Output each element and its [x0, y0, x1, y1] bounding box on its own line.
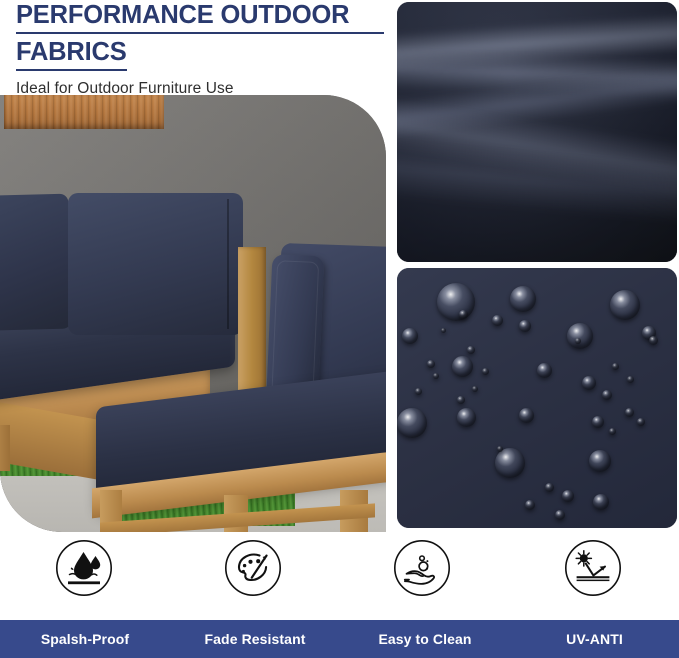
water-droplet — [612, 363, 619, 370]
water-droplet — [575, 338, 581, 344]
water-droplet — [452, 356, 473, 377]
feature-label-easy-to-clean: Easy to Clean — [340, 631, 510, 647]
sofa-left-back-cushion-2 — [68, 193, 243, 335]
hero-photo-outdoor-sofa — [0, 95, 386, 532]
feature-label-splash-proof: Spalsh-Proof — [0, 631, 170, 647]
water-droplet — [545, 483, 554, 492]
feature-icon-splash-proof — [55, 539, 113, 597]
title-line-2: FABRICS — [16, 37, 127, 71]
water-droplet — [495, 448, 525, 478]
water-droplet — [519, 320, 531, 332]
feature-label-bar: Spalsh-Proof Fade Resistant Easy to Clea… — [0, 620, 679, 658]
panel-fabric-closeup — [397, 2, 677, 262]
water-droplet — [582, 376, 596, 390]
water-droplet — [562, 490, 574, 502]
wood-post — [4, 95, 164, 129]
feature-icons-row — [0, 535, 679, 617]
feature-label-uv-anti: UV-ANTI — [510, 631, 679, 647]
fabric-vignette — [397, 2, 677, 262]
water-droplet — [537, 363, 552, 378]
hand-bubbles-icon — [393, 539, 451, 597]
water-droplet — [589, 450, 611, 472]
feature-icon-fade-resistant — [224, 539, 282, 597]
product-infographic: PERFORMANCE OUTDOOR FABRICS Ideal for Ou… — [0, 0, 679, 658]
water-droplet — [637, 418, 645, 426]
water-droplet — [602, 390, 612, 400]
water-droplet — [415, 388, 422, 395]
water-droplet — [555, 510, 565, 520]
palette-icon — [224, 539, 282, 597]
sofa-left-leg — [0, 425, 10, 471]
panel-water-repellent-closeup — [397, 268, 677, 528]
sofa-left-back-cushion-1 — [0, 194, 72, 332]
water-droplet — [427, 360, 435, 368]
water-droplet — [441, 328, 446, 333]
water-droplet — [567, 323, 593, 349]
water-droplet — [610, 290, 640, 320]
water-droplet — [397, 408, 427, 438]
water-droplet — [472, 386, 478, 392]
water-droplet — [437, 283, 475, 321]
feature-icon-uv-anti — [564, 539, 622, 597]
feature-label-fade-resistant: Fade Resistant — [170, 631, 340, 647]
water-droplet — [482, 368, 489, 375]
water-droplet — [609, 428, 616, 435]
water-droplet — [497, 446, 503, 452]
water-droplet — [457, 396, 465, 404]
water-droplet — [433, 373, 439, 379]
water-droplet — [627, 376, 634, 383]
water-droplet — [525, 500, 535, 510]
water-droplet — [510, 286, 536, 312]
feature-icon-easy-to-clean — [393, 539, 451, 597]
sun-reflect-icon — [564, 539, 622, 597]
title-line-1: PERFORMANCE OUTDOOR — [16, 0, 384, 34]
water-droplet — [457, 408, 476, 427]
water-droplet — [492, 315, 503, 326]
page-title: PERFORMANCE OUTDOOR FABRICS — [16, 0, 388, 71]
water-droplet — [519, 408, 534, 423]
water-droplet — [593, 494, 609, 510]
water-droplet — [592, 416, 604, 428]
water-droplet — [467, 346, 475, 354]
water-drop-icon — [55, 539, 113, 597]
water-droplet — [625, 408, 634, 417]
water-droplet — [459, 310, 468, 319]
header: PERFORMANCE OUTDOOR FABRICS Ideal for Ou… — [16, 0, 388, 92]
water-droplet — [402, 328, 418, 344]
water-droplet — [649, 336, 658, 345]
